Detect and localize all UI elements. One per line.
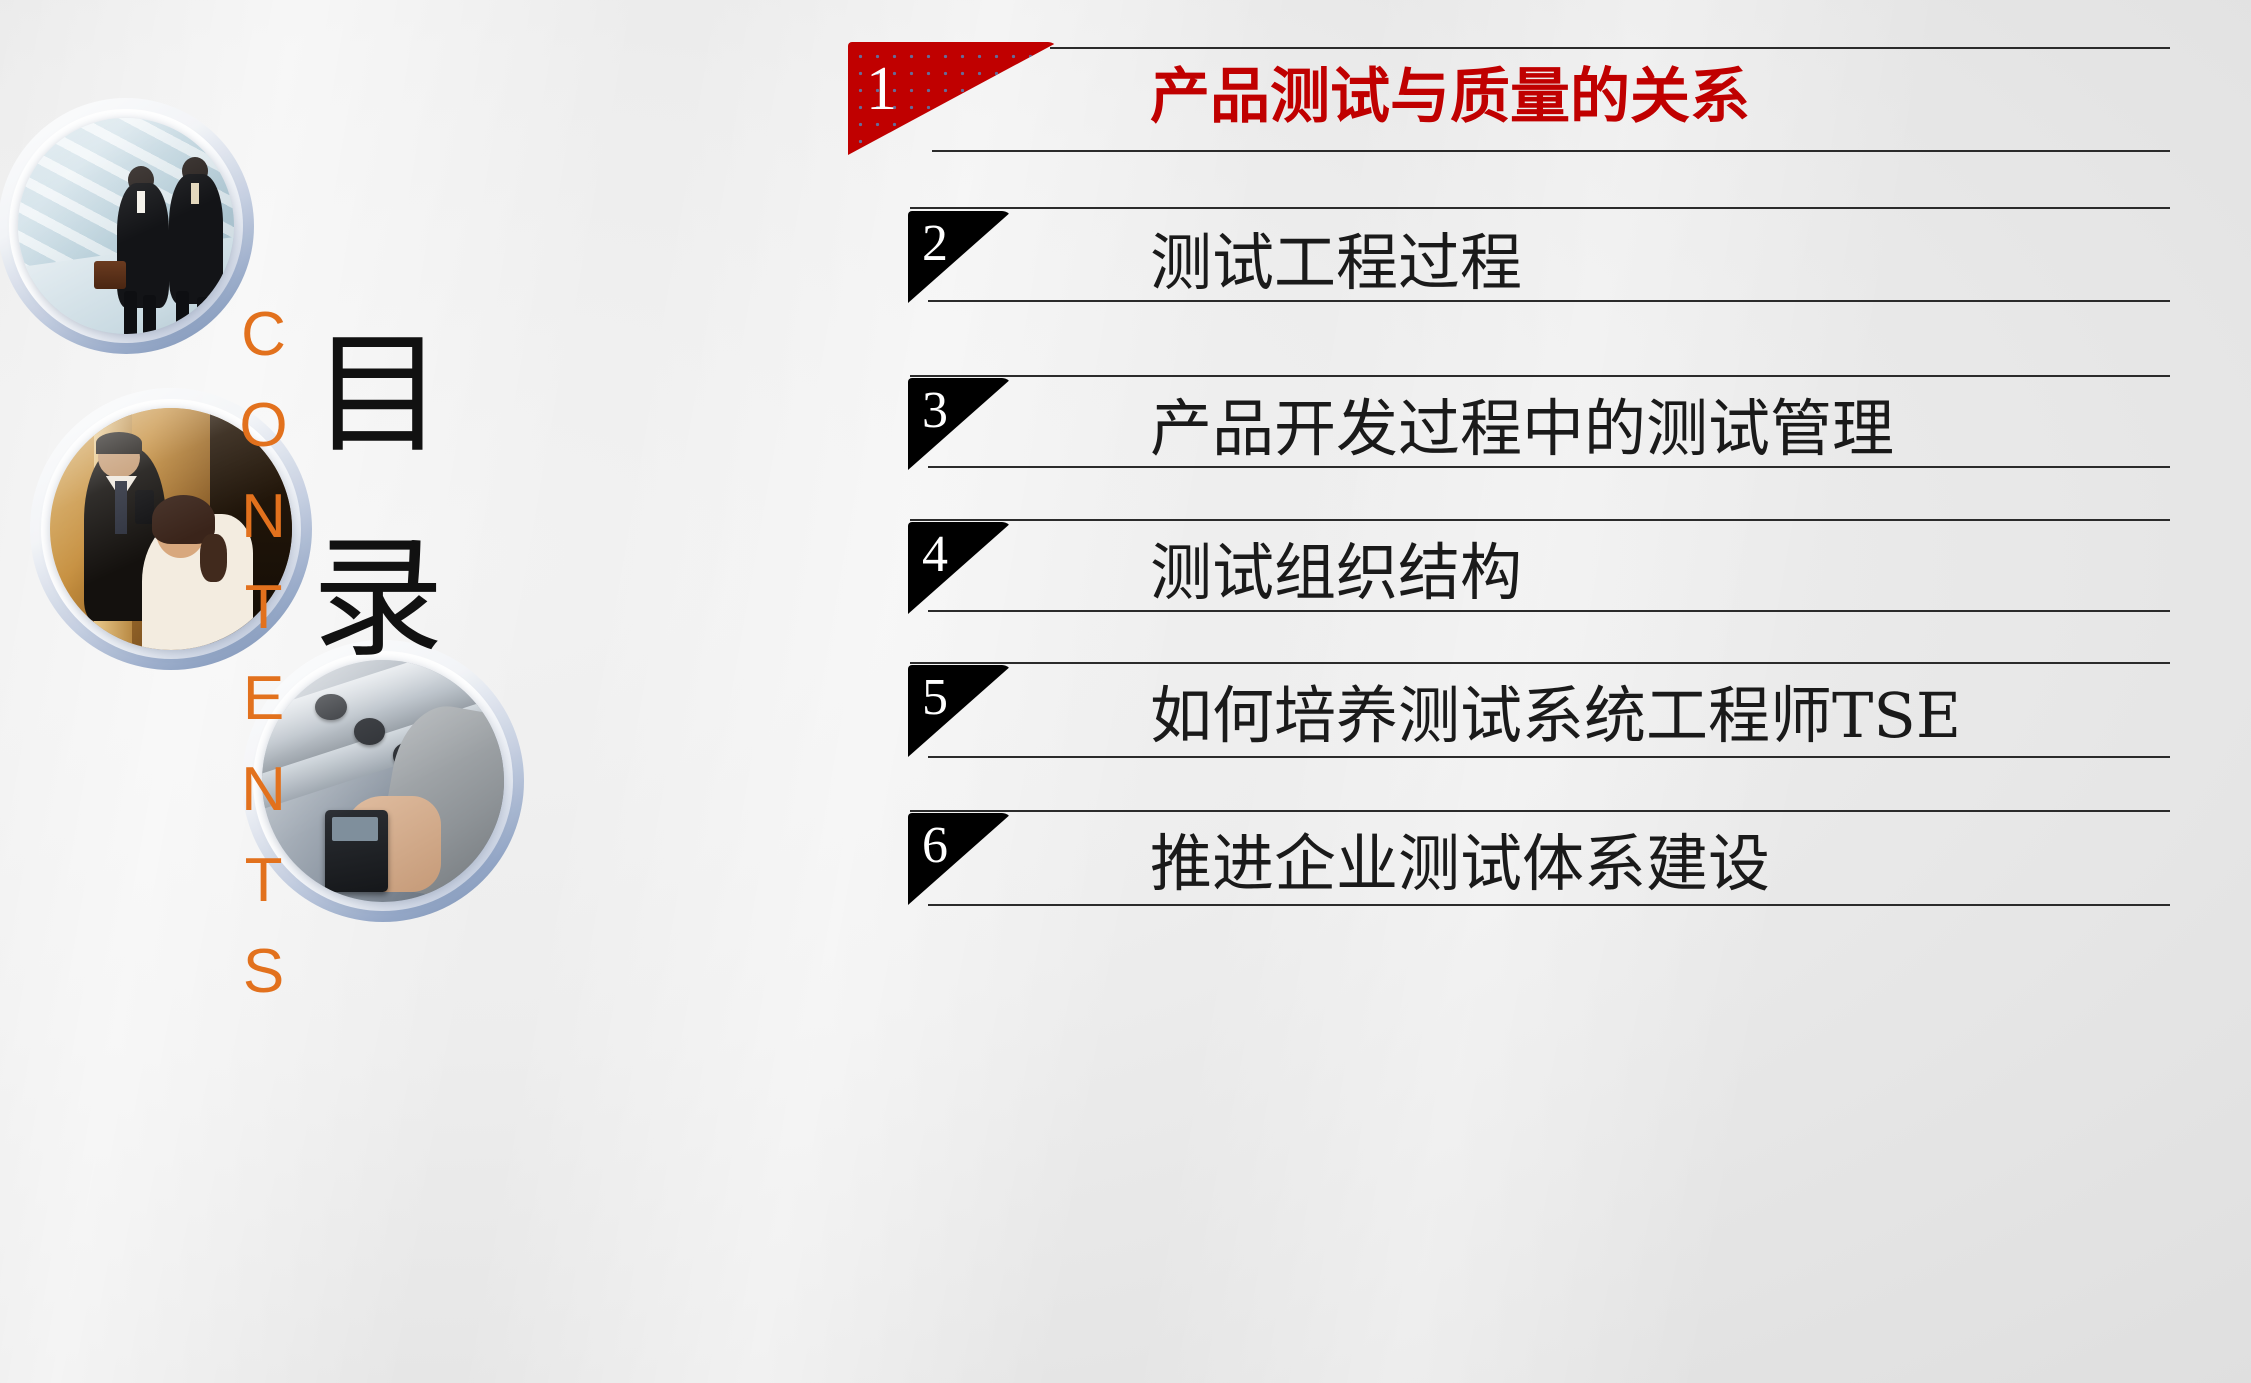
toc-marker-6: 6 [908, 813, 1012, 905]
toc-label-3: 产品开发过程中的测试管理 [1150, 378, 1894, 468]
toc-divider-top [910, 662, 2170, 664]
toc-label-2: 测试工程过程 [1150, 212, 1522, 302]
toc-divider-top [910, 810, 2170, 812]
toc-number-2: 2 [922, 218, 948, 270]
toc-number-3: 3 [922, 385, 948, 437]
photo-hand-device [262, 660, 504, 902]
toc-marker-3: 3 [908, 378, 1012, 470]
toc-divider-top [910, 375, 2170, 377]
toc-divider-top [910, 519, 2170, 521]
toc-marker-2: 2 [908, 211, 1012, 303]
toc-number-6: 6 [922, 820, 948, 872]
toc-label-5: 如何培养测试系统工程师TSE [1150, 665, 1961, 755]
toc-label-4: 测试组织结构 [1150, 522, 1522, 612]
page-title-char-2: 录 [312, 492, 444, 683]
toc-label-1: 产品测试与质量的关系 [1150, 48, 1750, 135]
table-of-contents: 1 产品测试与质量的关系 2 测试工程过程 3 产品开发过程中的测试管理 4 测… [910, 0, 2251, 1383]
toc-divider-bottom [928, 300, 2170, 302]
toc-divider-top [910, 207, 2170, 209]
toc-number-1: 1 [866, 58, 897, 120]
toc-label-6: 推进企业测试体系建设 [1150, 813, 1770, 903]
toc-marker-1: 1 [848, 42, 1058, 155]
photo-disc [18, 118, 234, 334]
toc-divider-bottom [928, 756, 2170, 758]
toc-number-4: 4 [922, 529, 948, 581]
left-panel: CONTENTS 目 录 [0, 0, 620, 1383]
page-title-char-1: 目 [312, 288, 444, 479]
toc-divider-bottom [932, 150, 2170, 152]
photo-businessmen-walking [18, 118, 234, 334]
toc-marker-4: 4 [908, 522, 1012, 614]
toc-divider-bottom [928, 904, 2170, 906]
toc-number-5: 5 [922, 672, 948, 724]
toc-marker-5: 5 [908, 665, 1012, 757]
toc-divider-bottom [928, 610, 2170, 612]
photo-disc [262, 660, 504, 902]
contents-vertical-label: CONTENTS [232, 300, 294, 1028]
